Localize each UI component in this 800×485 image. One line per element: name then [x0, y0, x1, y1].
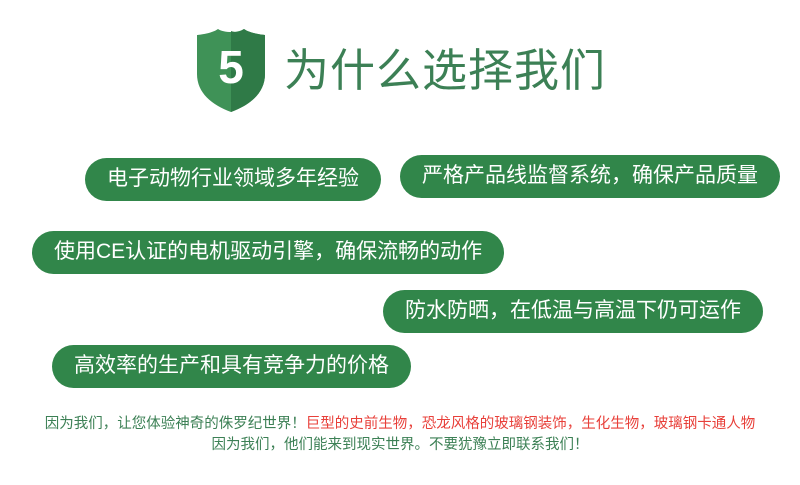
- footer-line-2: 因为我们，他们能来到现实世界。不要犹豫立即联系我们！: [0, 435, 800, 456]
- feature-pill-2: 严格产品线监督系统，确保产品质量: [400, 155, 780, 198]
- banner-header: 5 为什么选择我们: [0, 24, 800, 116]
- page-title: 为什么选择我们: [284, 48, 606, 93]
- footer-line-1-highlight: 巨型的史前生物，恐龙风格的玻璃钢装饰，生化生物，玻璃钢卡通人物: [306, 416, 756, 432]
- feature-pill-5: 高效率的生产和具有竞争力的价格: [52, 345, 411, 388]
- feature-pill-1: 电子动物行业领域多年经验: [85, 158, 381, 201]
- shield-icon: 5: [194, 27, 268, 113]
- why-choose-us-banner: 5 为什么选择我们 电子动物行业领域多年经验 严格产品线监督系统，确保产品质量 …: [0, 0, 800, 485]
- footer-line-1-green: 因为我们，让您体验神奇的侏罗纪世界！: [45, 416, 306, 432]
- shield-number: 5: [194, 27, 268, 113]
- footer-text: 因为我们，让您体验神奇的侏罗纪世界！巨型的史前生物，恐龙风格的玻璃钢装饰，生化生…: [0, 414, 800, 456]
- feature-pill-4: 防水防晒，在低温与高温下仍可运作: [383, 290, 763, 333]
- footer-line-1: 因为我们，让您体验神奇的侏罗纪世界！巨型的史前生物，恐龙风格的玻璃钢装饰，生化生…: [0, 414, 800, 435]
- feature-pill-3: 使用CE认证的电机驱动引擎，确保流畅的动作: [32, 231, 504, 274]
